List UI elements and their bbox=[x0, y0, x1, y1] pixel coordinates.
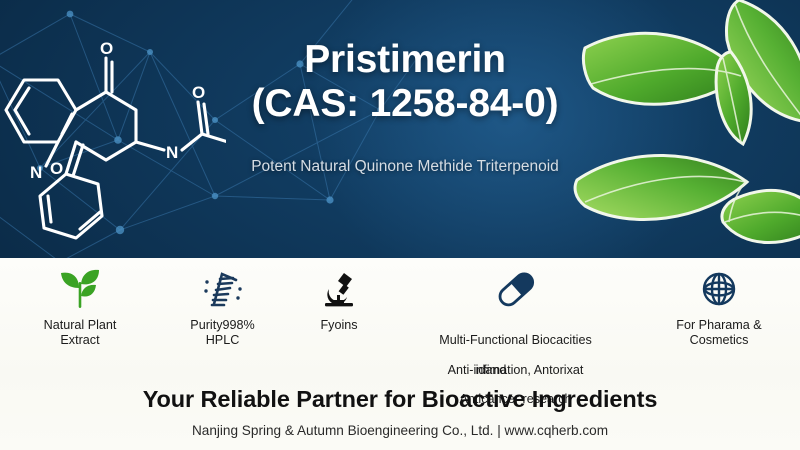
feature-label: For Pharama & Cosmetics bbox=[676, 318, 761, 348]
seedling-icon bbox=[58, 266, 102, 312]
feature-list: Natural Plant Extract bbox=[0, 266, 800, 378]
product-banner: O O N N O bbox=[0, 0, 800, 450]
feature-pharma-cosmetics: For Pharama & Cosmetics bbox=[638, 266, 800, 348]
globe-icon bbox=[699, 266, 739, 312]
hplc-chart-icon bbox=[202, 266, 244, 312]
subtitle: Potent Natural Quinone Methide Triterpen… bbox=[210, 158, 600, 176]
feature-label-line-1: Multi-Functional Biocacities bbox=[439, 333, 592, 347]
company-line: Nanjing Spring & Autumn Bioengineering C… bbox=[0, 423, 800, 438]
title-line-1: Pristimerin bbox=[210, 38, 600, 82]
svg-text:O: O bbox=[100, 39, 113, 58]
title-line-2: (CAS: 1258-84-0) bbox=[210, 82, 600, 126]
chemical-structure-icon: O O N N O bbox=[0, 18, 226, 250]
feature-label-line-2-a: Anti-infimation, Antorixat bbox=[448, 363, 584, 377]
page-title: Pristimerin (CAS: 1258-84-0) bbox=[210, 38, 600, 127]
feature-fyoins: Fyoins bbox=[285, 266, 393, 333]
svg-text:N: N bbox=[30, 163, 42, 182]
hero-text-block: Pristimerin (CAS: 1258-84-0) Potent Natu… bbox=[210, 38, 600, 176]
svg-text:N: N bbox=[166, 143, 178, 162]
feature-natural-plant-extract: Natural Plant Extract bbox=[0, 266, 160, 348]
feature-label-line-2: Anti-infimation, Antorixatidand bbox=[448, 363, 584, 378]
microscope-icon bbox=[319, 266, 359, 312]
feature-purity-hplc: Purity998% HPLC bbox=[160, 266, 285, 348]
svg-text:O: O bbox=[50, 159, 63, 178]
hero-section: O O N N O bbox=[0, 0, 800, 258]
svg-text:O: O bbox=[192, 83, 205, 102]
feature-label: Fyoins bbox=[320, 318, 357, 333]
green-leaves-icon bbox=[571, 0, 800, 258]
tagline: Your Reliable Partner for Bioactive Ingr… bbox=[0, 386, 800, 413]
capsule-icon bbox=[493, 266, 539, 312]
features-panel: Natural Plant Extract bbox=[0, 258, 800, 450]
feature-label-line-2-b: idand bbox=[476, 363, 507, 378]
feature-label: Purity998% HPLC bbox=[190, 318, 254, 348]
feature-label: Natural Plant Extract bbox=[44, 318, 117, 348]
